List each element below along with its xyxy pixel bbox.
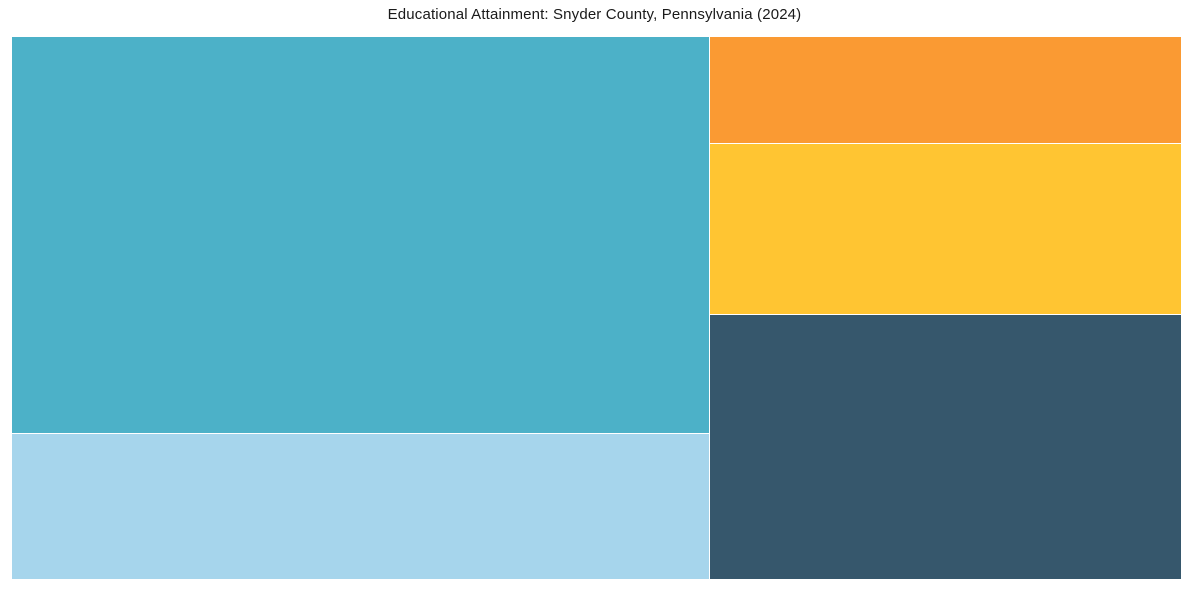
- treemap-tile-some-college-no-degree[interactable]: Some college, no degree: [12, 434, 709, 579]
- treemap-tile-high-school-graduate[interactable]: High school graduate or equivalent: [12, 37, 709, 433]
- chart-title: Educational Attainment: Snyder County, P…: [0, 5, 1189, 25]
- treemap-figure: Educational Attainment: Snyder County, P…: [0, 0, 1189, 590]
- treemap-tile-associates-degree[interactable]: Associate's degree: [710, 144, 1181, 314]
- treemap-tile-less-than-high-school[interactable]: Less than high school: [710, 37, 1181, 143]
- treemap-column-left: High school graduate or equivalent Some …: [12, 37, 709, 579]
- treemap-column-right: Less than high school Associate's degree…: [710, 37, 1181, 579]
- treemap-tile-bachelors-degree-or-higher[interactable]: Bachelor's degree or higher: [710, 315, 1181, 579]
- treemap-plot-area: High school graduate or equivalent Some …: [12, 37, 1181, 579]
